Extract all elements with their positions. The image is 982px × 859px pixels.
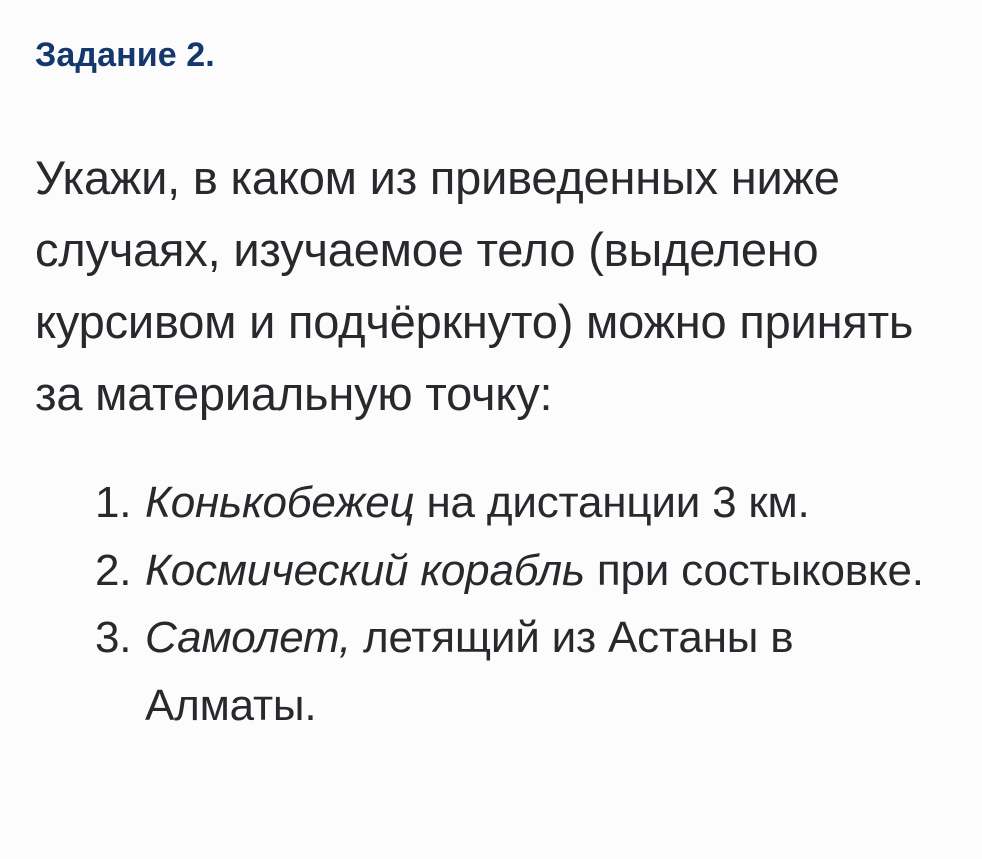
list-item-number: 1. (95, 469, 145, 537)
list-item-number: 3. (95, 604, 145, 672)
list-item-rest: на дистанции 3 км. (414, 478, 809, 527)
list-item-emphasis: Конькобежец (145, 478, 414, 527)
document-page: Задание 2. Укажи, в каком из приведенных… (0, 0, 982, 859)
list-item-emphasis: Космический корабль (145, 546, 585, 595)
list-item: 3.Самолет, летящий из Астаны в Алматы. (95, 604, 950, 739)
list-item: 1.Конькобежец на дистанции 3 км. (95, 469, 950, 537)
list-item-emphasis: Самолет, (145, 613, 351, 662)
answer-options-list: 1.Конькобежец на дистанции 3 км. 2.Косми… (95, 469, 950, 739)
list-item-rest: при состыковке. (585, 546, 924, 595)
list-item: 2.Космический корабль при состыковке. (95, 537, 950, 605)
list-item-number: 2. (95, 537, 145, 605)
task-prompt-text: Укажи, в каком из приведенных ниже случа… (35, 142, 970, 430)
page-title: Задание 2. (35, 31, 215, 79)
